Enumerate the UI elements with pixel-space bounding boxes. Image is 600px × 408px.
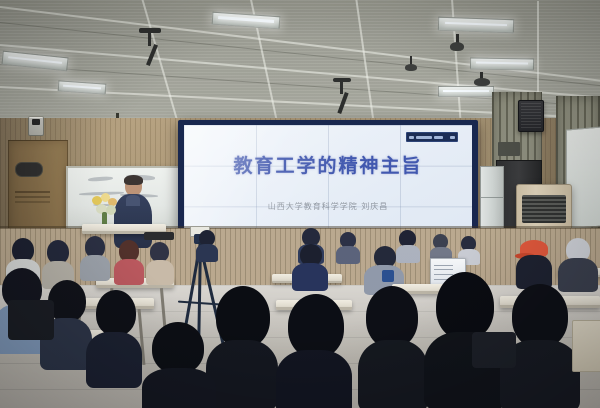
person-torso xyxy=(142,368,216,408)
person-torso xyxy=(196,244,218,262)
person-head xyxy=(288,294,344,358)
person-head xyxy=(150,242,169,262)
audience-member xyxy=(114,240,144,284)
audience-member xyxy=(142,322,216,408)
chair-back xyxy=(472,332,516,368)
toolbar-title-bar xyxy=(416,136,432,139)
slide-window-toolbar[interactable] xyxy=(406,132,458,142)
person-torso xyxy=(358,340,428,408)
lecture-hall-photo: 教育工学的精神主旨 山西大学教育科学学院 刘庆昌 xyxy=(0,0,600,408)
audience-member xyxy=(292,244,328,288)
camera-mount-head xyxy=(333,78,351,82)
ceiling-light xyxy=(438,17,514,34)
audience-member xyxy=(196,230,218,260)
ac-vent xyxy=(522,195,566,224)
person-head xyxy=(216,286,270,348)
audience-member xyxy=(336,232,360,262)
person-torso xyxy=(336,246,360,264)
shirt-logo xyxy=(382,270,394,282)
laptop-text-line xyxy=(434,269,453,270)
person-torso xyxy=(276,350,352,408)
slide-title: 教育工学的精神主旨 xyxy=(184,151,472,178)
audience-member xyxy=(516,240,552,288)
audience-member xyxy=(358,286,428,408)
person-torso xyxy=(80,255,110,281)
person-head xyxy=(152,322,204,374)
audience-member xyxy=(206,286,278,408)
camera-mount-head xyxy=(139,28,161,33)
whiteboard-writing xyxy=(88,176,113,182)
audience-member xyxy=(86,290,142,386)
wall-bracket xyxy=(498,142,520,156)
locker-seam xyxy=(481,197,503,198)
person-head xyxy=(436,272,494,340)
chair-back xyxy=(8,300,54,340)
audience-member xyxy=(276,294,352,408)
flower-petal xyxy=(106,205,116,215)
ceiling-speaker xyxy=(405,64,417,71)
audience-member xyxy=(146,242,174,284)
presenter-collar xyxy=(126,195,140,206)
wall-speaker xyxy=(518,100,544,132)
camera-mount xyxy=(340,80,343,94)
ceiling-light xyxy=(438,86,494,97)
close-icon[interactable] xyxy=(450,136,455,139)
audience-member xyxy=(558,238,598,290)
person-head xyxy=(96,290,136,336)
flower-arrangement xyxy=(88,192,122,226)
person-torso xyxy=(86,332,142,388)
ceiling-speaker xyxy=(474,78,490,86)
person-torso xyxy=(206,340,278,408)
toolbar-controls[interactable] xyxy=(434,136,443,139)
speaker-grill xyxy=(521,103,541,129)
toolbar-menu-icon[interactable] xyxy=(409,136,414,139)
ceiling-light xyxy=(470,57,534,70)
slide-subtitle: 山西大学教育科学学院 刘庆昌 xyxy=(184,201,472,212)
person-torso xyxy=(146,260,174,285)
presenter-hair xyxy=(124,175,143,185)
person-torso xyxy=(292,263,328,291)
laptop-text-line xyxy=(434,265,453,266)
ceiling-speaker xyxy=(450,42,464,51)
tote-bag xyxy=(572,320,600,372)
person-torso xyxy=(114,259,144,285)
audience-member xyxy=(80,236,110,280)
person-head xyxy=(366,286,418,348)
person-head xyxy=(512,284,568,348)
